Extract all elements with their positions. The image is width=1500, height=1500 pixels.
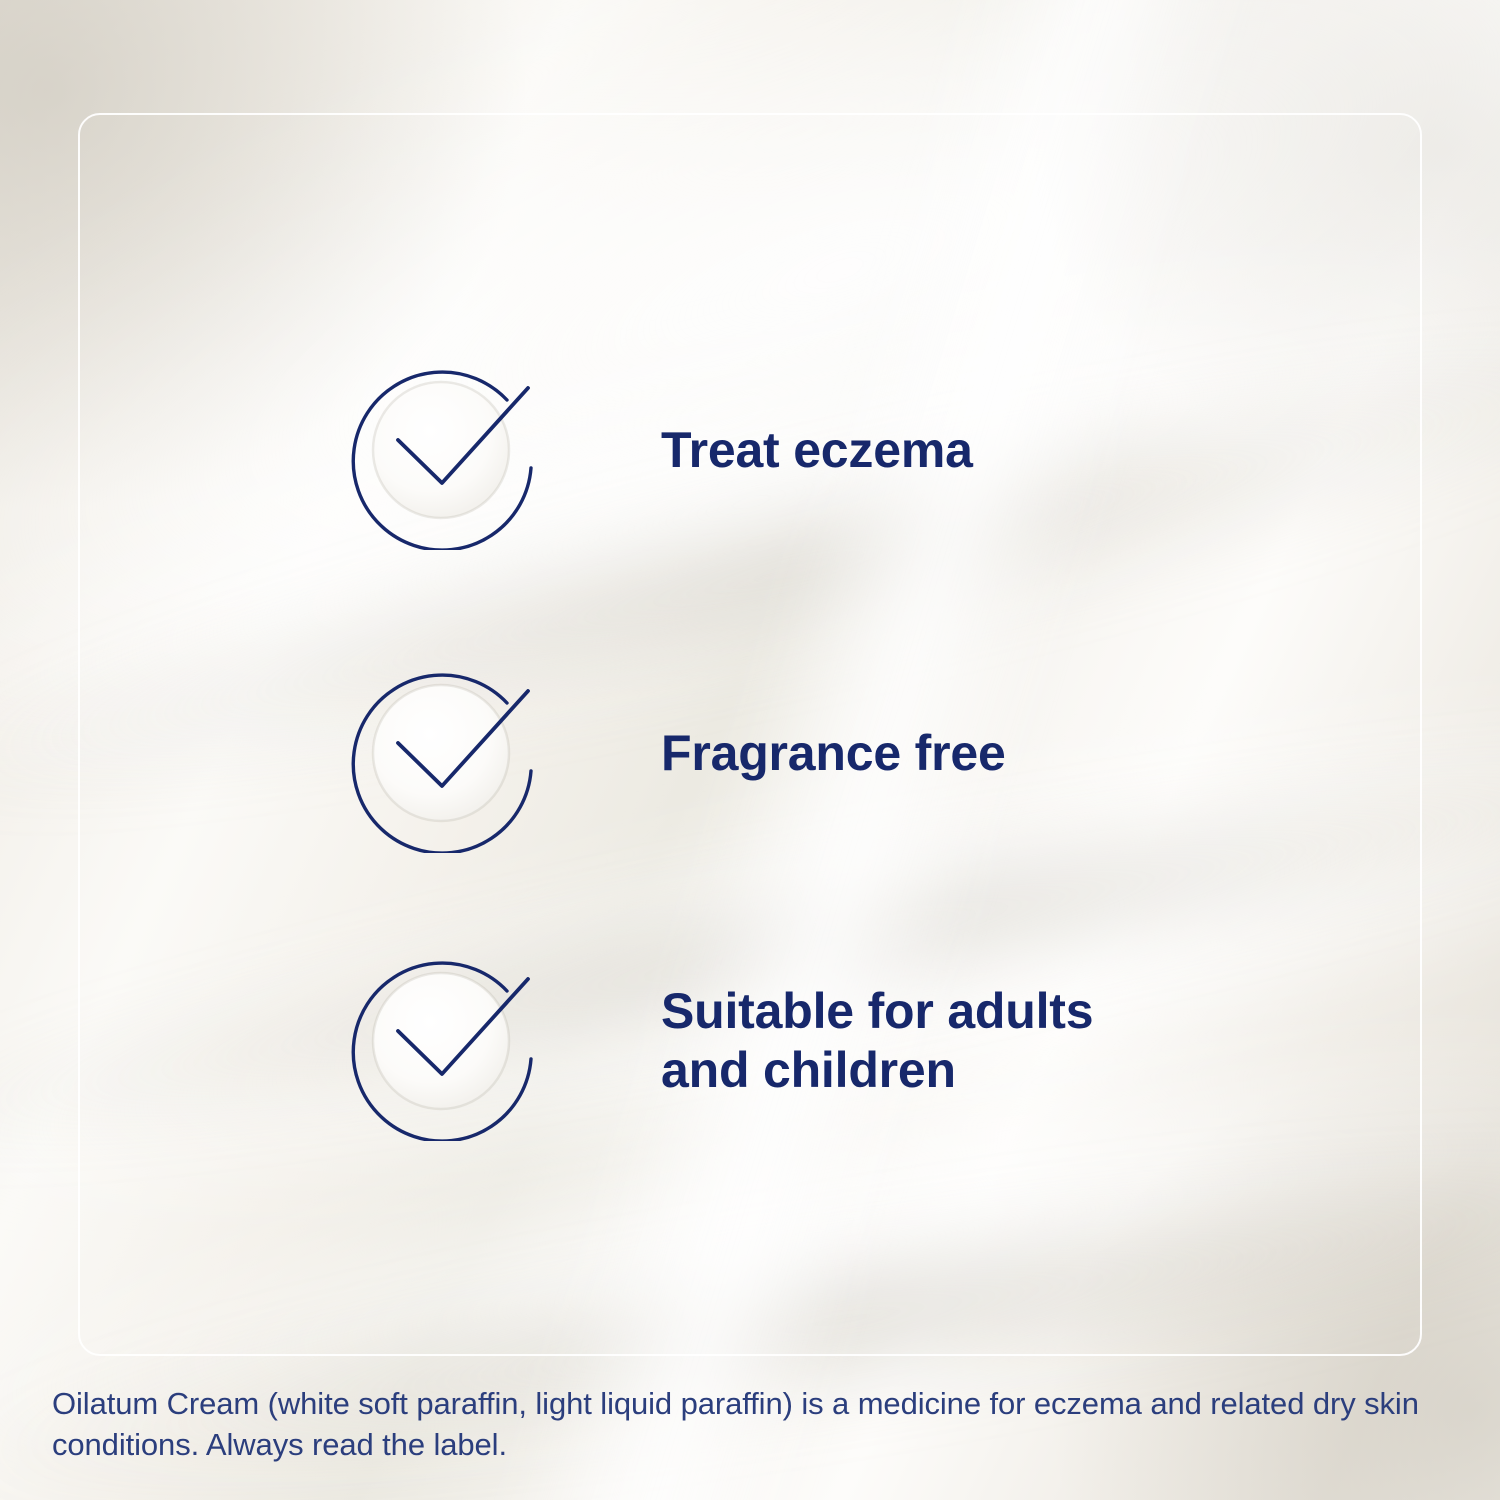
benefit-item-fragrance-free: Fragrance free: [355, 653, 1006, 853]
benefit-label: Fragrance free: [661, 724, 1006, 783]
check-circle-icon: [342, 941, 542, 1141]
benefit-label: Treat eczema: [661, 421, 973, 480]
benefit-label: Suitable for adults and children: [661, 982, 1093, 1100]
disclaimer-text: Oilatum Cream (white soft paraffin, ligh…: [52, 1383, 1442, 1465]
benefit-item-suitable-adults-children: Suitable for adults and children: [355, 941, 1093, 1141]
check-circle-icon: [342, 350, 542, 550]
check-circle-icon: [342, 653, 542, 853]
benefit-item-treat-eczema: Treat eczema: [355, 350, 973, 550]
product-benefits-image: Treat eczema F: [0, 0, 1500, 1500]
